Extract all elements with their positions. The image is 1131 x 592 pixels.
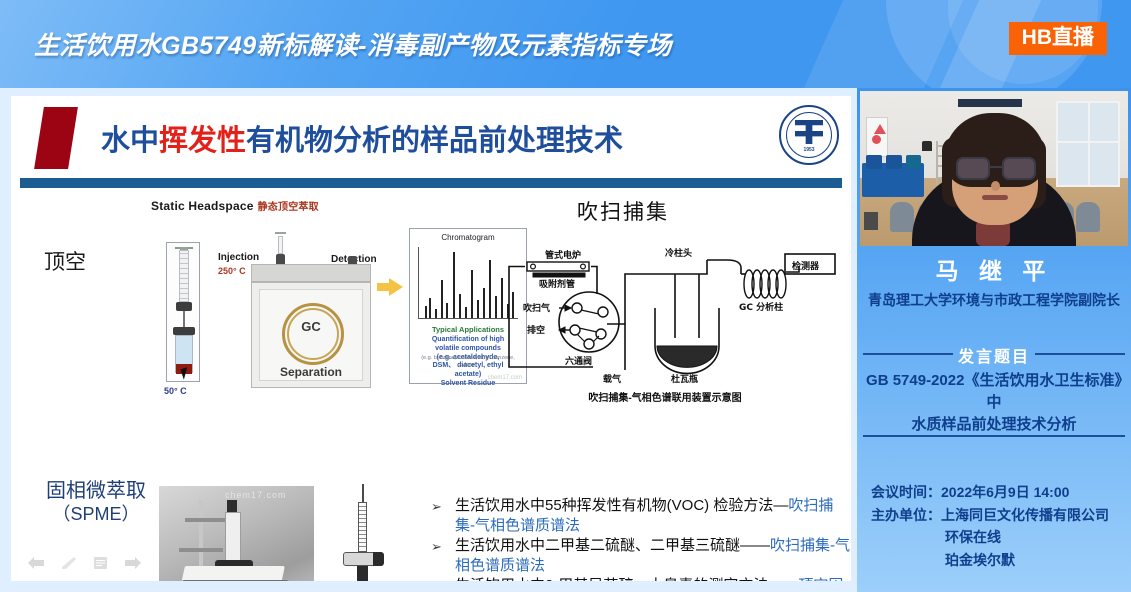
- section-purge-trap: 吹扫捕集: [577, 196, 669, 226]
- university-seal-icon: 1953: [779, 105, 839, 165]
- window-decor: [1056, 101, 1120, 187]
- svg-text:六通阀: 六通阀: [565, 355, 592, 367]
- page-header: 生活饮用水GB5749新标解读-消毒副产物及元素指标专场 HB直播: [0, 0, 1131, 88]
- organizer-label: 主办单位：: [871, 507, 941, 523]
- lamp-icon: [922, 141, 932, 151]
- bullet-segment-accent2: -气相色谱质谱法: [470, 517, 580, 534]
- bullet-text: 生活饮用水中2-甲基异莰醇、土臭素的测定方法——顶空固相微萃取-气相色谱质谱法: [455, 577, 843, 581]
- section-static-headspace-cn: 静态顶空萃取: [258, 202, 319, 213]
- flow-arrow-icon: [389, 278, 403, 296]
- organizer-row-2: 环保在线: [871, 526, 1109, 549]
- live-stream-page: 生活饮用水GB5749新标解读-消毒副产物及元素指标专场 HB直播 水中挥发性有…: [0, 0, 1131, 592]
- bullet-arrow-icon: ➢: [431, 540, 442, 553]
- svg-text:排空: 排空: [527, 324, 545, 336]
- seal-year: 1953: [781, 147, 837, 153]
- bullet-segment: 生活饮用水中55种挥发性有机物(VOC) 检验方法—: [455, 497, 788, 514]
- spme-syringe-figure: [335, 484, 391, 581]
- bullet-segment: 生活饮用水中二甲基二硫醚、二甲基三硫醚——: [455, 537, 770, 554]
- gc-label: GC: [252, 319, 370, 334]
- label-spme: 固相微萃取 （SPME）: [26, 480, 166, 525]
- topic-heading: 发言题目: [857, 343, 1131, 367]
- list-item: ➢ 生活饮用水中二甲基二硫醚、二甲基三硫醚——吹扫捕集-气相色谱质谱法: [427, 536, 851, 575]
- forward-arrow-icon[interactable]: [124, 556, 142, 575]
- label-headspace: 顶空: [44, 246, 86, 276]
- meeting-time-value: 2022年6月9日 14:00: [941, 484, 1069, 500]
- document-icon[interactable]: [93, 556, 108, 575]
- list-item: ➢ 生活饮用水中55种挥发性有机物(VOC) 检验方法—吹扫捕集-气相色谱质谱法: [427, 496, 851, 535]
- speaker-nose: [991, 181, 1000, 191]
- section-static-headspace: Static Headspace静态顶空萃取: [151, 198, 319, 213]
- bullet-arrow-icon: ➢: [431, 580, 442, 581]
- back-arrow-icon[interactable]: [27, 556, 45, 575]
- label-injection-temp: 250° C: [218, 266, 246, 276]
- label-injection: Injection: [218, 252, 259, 263]
- slide-title-part1: 水中: [101, 125, 159, 157]
- speaker-name: 马 继 平: [857, 252, 1131, 286]
- organizer-row-3: 珀金埃尔默: [871, 549, 1109, 572]
- bullet-segment-accent: 吹扫捕集: [770, 537, 830, 554]
- headspace-vial-figure: [166, 242, 200, 382]
- slide-toolbar[interactable]: [27, 556, 142, 575]
- video-feed[interactable]: [860, 91, 1128, 246]
- svg-text:杜瓦瓶: 杜瓦瓶: [671, 373, 698, 385]
- label-spme-cn: 固相微萃取: [26, 480, 166, 504]
- slide-body: 顶空 固相微萃取 （SPME） Static Headspace静态顶空萃取 吹…: [11, 190, 851, 581]
- list-item: ➢ 生活饮用水中2-甲基异莰醇、土臭素的测定方法——顶空固相微萃取-气相色谱质谱…: [427, 576, 851, 581]
- svg-text:检测器: 检测器: [792, 260, 820, 272]
- topic-heading-row: 发言题目: [857, 343, 1131, 363]
- gc-oven-figure: GC Separation: [251, 264, 371, 388]
- screen-badge-decor: [864, 212, 878, 230]
- organizer-row: 主办单位：上海同巨文化传播有限公司: [871, 504, 1109, 527]
- topic-title-line-1: GB 5749-2022《生活饮用水卫生标准》中: [863, 370, 1125, 414]
- meeting-info: 会议时间：2022年6月9日 14:00 主办单位：上海同巨文化传播有限公司 环…: [871, 481, 1109, 572]
- bullet-list: ➢ 生活饮用水中55种挥发性有机物(VOC) 检验方法—吹扫捕集-气相色谱质谱法…: [427, 496, 851, 581]
- purge-trap-figure: 管式电炉 吸附剂管 吹扫气 排空 六通阀 载气 冷柱头 杜瓦瓶 GC 分析柱 检…: [489, 242, 841, 402]
- wall-strip: [958, 99, 1022, 107]
- slide-accent-shape: [34, 107, 78, 169]
- topic-bottom-rule: [863, 435, 1125, 437]
- page-title: 生活饮用水GB5749新标解读-消毒副产物及元素指标专场: [34, 26, 672, 62]
- slide-title-part3: 有机物分析的样品前处理技术: [246, 125, 623, 157]
- slide-title-bar: 水中挥发性有机物分析的样品前处理技术 1953: [11, 96, 851, 176]
- spme-apparatus-photo: chem17.com: [159, 486, 314, 581]
- spme-photo-watermark: chem17.com: [225, 490, 287, 500]
- separation-label: Separation: [252, 365, 370, 379]
- wall-art-icon: [866, 117, 888, 157]
- slide-viewer[interactable]: 水中挥发性有机物分析的样品前处理技术 1953 顶空 固相微萃取 （SPME） …: [11, 96, 851, 581]
- bullet-text: 生活饮用水中55种挥发性有机物(VOC) 检验方法—吹扫捕集-气相色谱质谱法: [455, 497, 833, 534]
- vial-temperature-label: 50° C: [164, 386, 187, 396]
- glasses-icon: [956, 157, 1036, 181]
- organizer-value: 上海同巨文化传播有限公司: [941, 507, 1109, 523]
- speaker-affiliation: 青岛理工大学环境与市政工程学院副院长: [857, 290, 1131, 310]
- speaker-sidebar: 马 继 平 青岛理工大学环境与市政工程学院副院长 发言题目 GB 5749-20…: [857, 88, 1131, 592]
- svg-text:吸附剂管: 吸附剂管: [539, 278, 575, 290]
- purge-trap-svg: 管式电炉 吸附剂管 吹扫气 排空 六通阀 载气 冷柱头 杜瓦瓶 GC 分析柱 检…: [489, 242, 841, 392]
- slide-title-rule: [20, 178, 842, 188]
- meeting-time-label: 会议时间：: [871, 484, 941, 500]
- chromatogram-title: Chromatogram: [410, 233, 526, 242]
- meeting-time-row: 会议时间：2022年6月9日 14:00: [871, 481, 1109, 504]
- speaker-mouth: [982, 195, 1008, 200]
- chair-decor: [890, 202, 914, 232]
- live-badge: HB直播: [1009, 22, 1107, 55]
- svg-text:GC 分析柱: GC 分析柱: [739, 301, 783, 313]
- bullet-segment: 生活饮用水中2-甲基异莰醇、土臭素的测定方法——: [455, 577, 798, 581]
- chair-decor: [1076, 202, 1100, 232]
- svg-text:冷柱头: 冷柱头: [665, 247, 692, 259]
- label-spme-en: （SPME）: [26, 504, 166, 525]
- slide-title: 水中挥发性有机物分析的样品前处理技术: [101, 117, 623, 159]
- topic-title-line-2: 水质样品前处理技术分析: [863, 414, 1125, 436]
- slide-title-part2: 挥发性: [159, 125, 246, 157]
- svg-text:载气: 载气: [603, 373, 621, 385]
- purge-trap-caption: 吹扫捕集-气相色谱联用装置示意图: [489, 389, 841, 404]
- topic-rule-right: [1035, 353, 1125, 355]
- section-static-headspace-en: Static Headspace: [151, 199, 254, 213]
- bullet-arrow-icon: ➢: [431, 500, 442, 513]
- mini-syringe-icon: [275, 232, 286, 256]
- topic-title: GB 5749-2022《生活饮用水卫生标准》中 水质样品前处理技术分析: [863, 370, 1125, 435]
- sofa-decor: [862, 163, 924, 197]
- svg-text:吹扫气: 吹扫气: [523, 302, 550, 314]
- pen-icon[interactable]: [61, 556, 77, 575]
- svg-text:管式电炉: 管式电炉: [545, 249, 581, 261]
- bullet-text: 生活饮用水中二甲基二硫醚、二甲基三硫醚——吹扫捕集-气相色谱质谱法: [455, 537, 850, 574]
